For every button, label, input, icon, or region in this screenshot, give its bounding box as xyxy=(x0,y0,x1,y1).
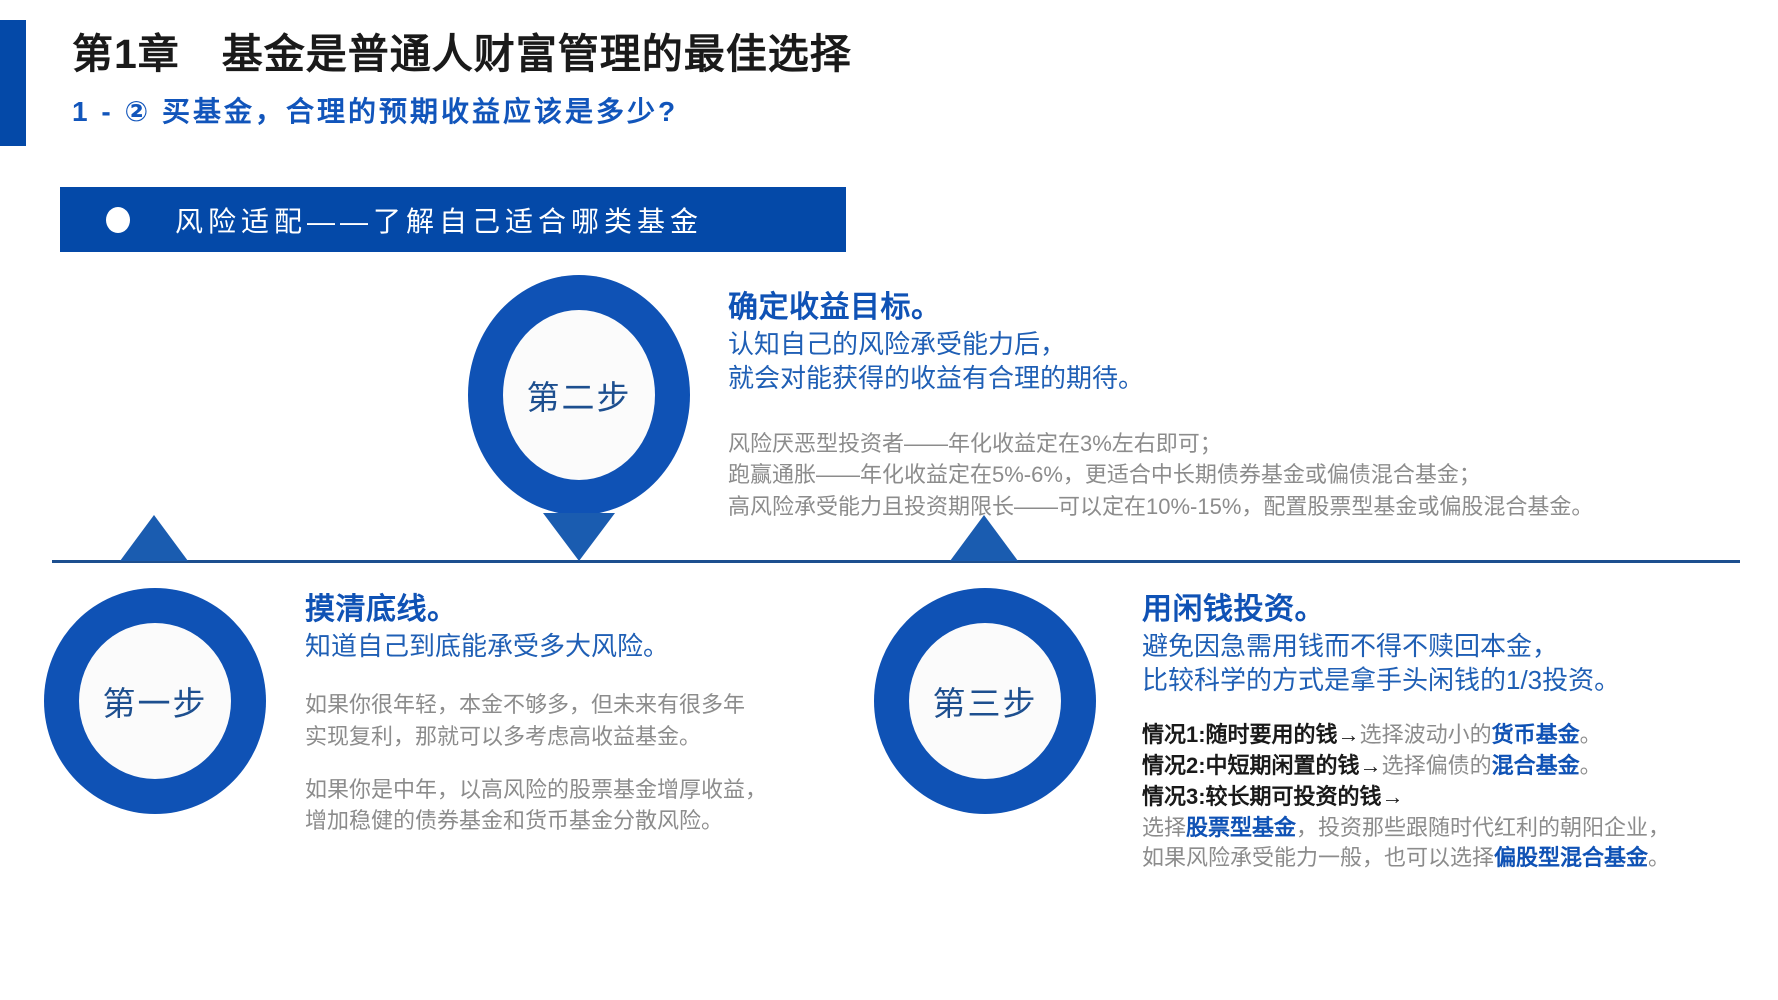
bullet-icon xyxy=(106,207,130,233)
step-2-lead-line-1: 认知自己的风险承受能力后， xyxy=(728,327,1593,362)
closing-2-pre: 如果风险承受能力一般，也可以选择 xyxy=(1142,845,1494,870)
step-1-lead: 知道自己到底能承受多大风险。 xyxy=(305,629,767,664)
step-3-lead-line-1: 避免因急需用钱而不得不赎回本金， xyxy=(1142,629,1670,664)
chapter-title: 第1章 基金是普通人财富管理的最佳选择 xyxy=(72,20,852,80)
case-2-fund: 混合基金 xyxy=(1492,753,1580,778)
slide-canvas: 第1章 基金是普通人财富管理的最佳选择 1 - ② 买基金，合理的预期收益应该是… xyxy=(0,0,1778,1000)
case-1-label: 情况1:随时要用的钱→ xyxy=(1142,722,1360,747)
step-1-text-block: 摸清底线。 知道自己到底能承受多大风险。 如果你很年轻，本金不够多，但未来有很多… xyxy=(305,592,767,836)
case-1-body: 选择波动小的 xyxy=(1360,722,1492,747)
case-2-tail: 。 xyxy=(1580,753,1602,778)
step-circle-1-inner: 第一步 xyxy=(79,623,231,779)
step-1-note-2: 实现复利，那就可以多考虑高收益基金。 xyxy=(305,721,767,752)
step-3-lead-line-2: 比较科学的方式是拿手头闲钱的1/3投资。 xyxy=(1142,663,1670,698)
step-3-heading: 用闲钱投资。 xyxy=(1142,592,1670,629)
step-circle-2-label: 第二步 xyxy=(527,371,632,419)
step-1-note-3: 如果你是中年，以高风险的股票基金增厚收益， xyxy=(305,774,767,805)
step-2-lead-line-2: 就会对能获得的收益有合理的期待。 xyxy=(728,361,1593,396)
step-2-note-1: 风险厌恶型投资者——年化收益定在3%左右即可； xyxy=(728,428,1593,459)
pointer-up-icon-3 xyxy=(950,515,1018,561)
step-circle-2: 第二步 xyxy=(468,275,690,515)
step-3-case-3: 情况3:较长期可投资的钱→ xyxy=(1142,782,1670,813)
closing-1-post: ，投资那些跟随时代红利的朝阳企业， xyxy=(1296,815,1670,840)
case-3-label: 情况3:较长期可投资的钱→ xyxy=(1142,784,1404,809)
closing-2-post: 。 xyxy=(1648,845,1670,870)
timeline-divider xyxy=(52,560,1740,563)
step-circle-2-inner: 第二步 xyxy=(503,310,655,480)
closing-2-fund: 偏股型混合基金 xyxy=(1494,845,1648,870)
accent-bar xyxy=(0,20,26,146)
step-circle-3: 第三步 xyxy=(874,588,1096,814)
step-3-case-1: 情况1:随时要用的钱→选择波动小的货币基金。 xyxy=(1142,720,1670,751)
step-2-note-3: 高风险承受能力且投资期限长——可以定在10%-15%，配置股票型基金或偏股混合基… xyxy=(728,491,1593,522)
step-3-closing-1: 选择股票型基金，投资那些跟随时代红利的朝阳企业， xyxy=(1142,813,1670,844)
step-2-note-2: 跑赢通胀——年化收益定在5%-6%，更适合中长期债券基金或偏债混合基金； xyxy=(728,459,1593,490)
closing-1-fund: 股票型基金 xyxy=(1186,815,1296,840)
step-circle-1: 第一步 xyxy=(44,588,266,814)
step-1-notes: 如果你很年轻，本金不够多，但未来有很多年 实现复利，那就可以多考虑高收益基金。 … xyxy=(305,689,767,836)
closing-1-pre: 选择 xyxy=(1142,815,1186,840)
step-1-note-1: 如果你很年轻，本金不够多，但未来有很多年 xyxy=(305,689,767,720)
step-1-heading: 摸清底线。 xyxy=(305,592,767,629)
step-3-text-block: 用闲钱投资。 避免因急需用钱而不得不赎回本金， 比较科学的方式是拿手头闲钱的1/… xyxy=(1142,592,1670,874)
step-3-cases: 情况1:随时要用的钱→选择波动小的货币基金。 情况2:中短期闲置的钱→选择偏债的… xyxy=(1142,720,1670,874)
step-3-case-2: 情况2:中短期闲置的钱→选择偏债的混合基金。 xyxy=(1142,751,1670,782)
case-1-tail: 。 xyxy=(1580,722,1602,747)
step-3-closing-2: 如果风险承受能力一般，也可以选择偏股型混合基金。 xyxy=(1142,843,1670,874)
case-2-body: 选择偏债的 xyxy=(1382,753,1492,778)
pointer-down-icon xyxy=(543,513,615,561)
step-circle-3-label: 第三步 xyxy=(933,677,1038,725)
step-2-notes: 风险厌恶型投资者——年化收益定在3%左右即可； 跑赢通胀——年化收益定在5%-6… xyxy=(728,428,1593,522)
pointer-up-icon-1 xyxy=(120,515,188,561)
step-2-text-block: 确定收益目标。 认知自己的风险承受能力后， 就会对能获得的收益有合理的期待。 风… xyxy=(728,290,1593,522)
case-1-fund: 货币基金 xyxy=(1492,722,1580,747)
step-1-note-4: 增加稳健的债券基金和货币基金分散风险。 xyxy=(305,805,767,836)
step-circle-1-label: 第一步 xyxy=(103,677,208,725)
section-title: 1 - ② 买基金，合理的预期收益应该是多少? xyxy=(72,90,678,130)
step-circle-3-inner: 第三步 xyxy=(909,623,1061,779)
risk-match-banner: 风险适配——了解自己适合哪类基金 xyxy=(60,187,846,252)
step-2-heading: 确定收益目标。 xyxy=(728,290,1593,327)
case-2-label: 情况2:中短期闲置的钱→ xyxy=(1142,753,1382,778)
banner-label: 风险适配——了解自己适合哪类基金 xyxy=(175,200,703,240)
